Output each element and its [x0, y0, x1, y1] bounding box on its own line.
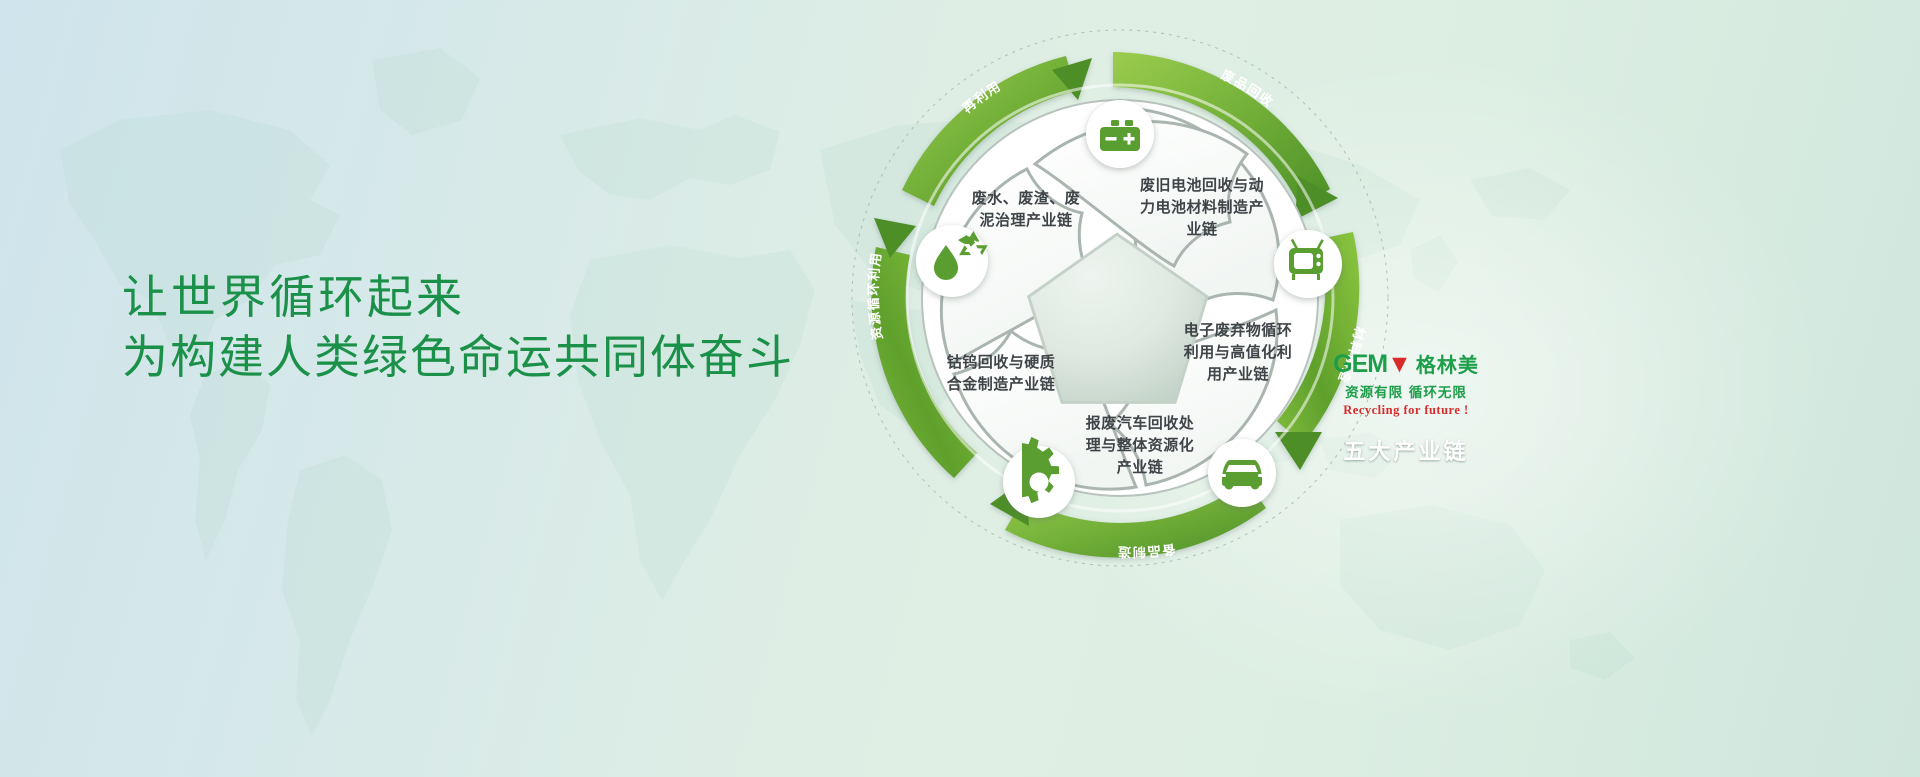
- icon-bubble-battery[interactable]: [1086, 100, 1154, 168]
- car-icon: [1221, 460, 1263, 490]
- icon-bubble-car[interactable]: [1208, 439, 1276, 507]
- icon-bubble-television[interactable]: [1274, 230, 1342, 298]
- gem-chinese-name: 格林美: [1416, 355, 1479, 375]
- headline-line-1: 让世界循环起来: [122, 268, 794, 328]
- icon-bubble-water-recycle[interactable]: [916, 225, 988, 297]
- headline-line-2: 为构建人类绿色命运共同体奋斗: [122, 328, 794, 388]
- headline-block: 让世界循环起来 为构建人类绿色命运共同体奋斗: [122, 268, 794, 388]
- five-industry-chain-diagram: 废品回收 材料制造 备品制造 资源循环利用 再利用 废旧电池回收与动力电池材料制…: [830, 8, 1410, 588]
- diagram-svg: 废品回收 材料制造 备品制造 资源循环利用 再利用: [830, 8, 1410, 588]
